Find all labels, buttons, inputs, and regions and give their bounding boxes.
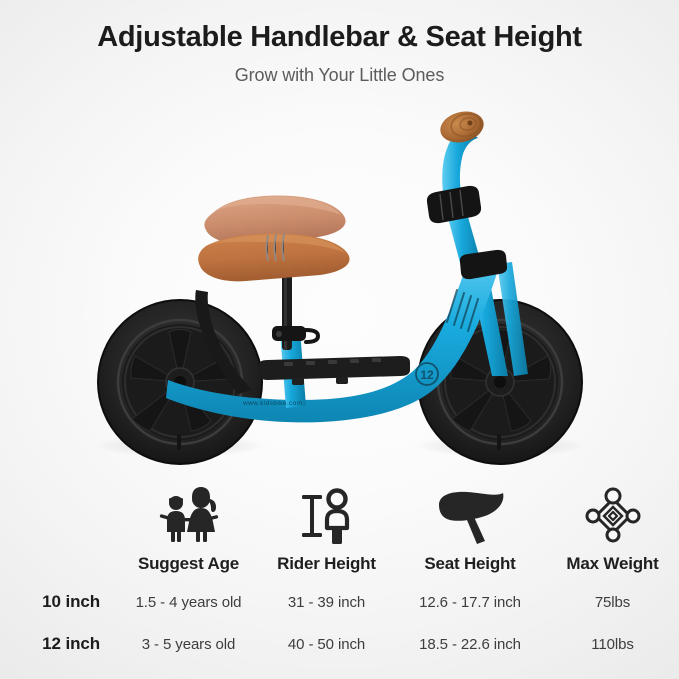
- spec-header-row: Suggest Age Rider Height Seat Height Max…: [0, 547, 679, 581]
- bike-svg: 12 www.kidsbike.com: [0, 94, 679, 469]
- spec-header-spacer: [0, 547, 118, 581]
- front-valve-stem: [177, 434, 181, 450]
- page-subtitle: Grow with Your Little Ones: [0, 65, 679, 86]
- column-header-suggest-age: Suggest Age: [118, 547, 259, 581]
- rider-height-icon-cell: [259, 481, 394, 547]
- spec-icon-spacer: [0, 481, 118, 547]
- children-icon: [156, 487, 222, 545]
- footrest-platform: [258, 356, 410, 385]
- cell-10inch-seat-height: 12.6 - 17.7 inch: [394, 581, 546, 623]
- cell-12inch-rider-height: 40 - 50 inch: [259, 623, 394, 665]
- saddle-lower: [198, 233, 349, 281]
- cell-12inch-suggest-age: 3 - 5 years old: [118, 623, 259, 665]
- rider-height-icon: [300, 487, 354, 545]
- children-icon-cell: [118, 481, 259, 547]
- row-label-10-inch: 10 inch: [0, 581, 118, 623]
- max-weight-icon: [584, 487, 642, 545]
- column-header-max-weight: Max Weight: [546, 547, 679, 581]
- table-row: 10 inch 1.5 - 4 years old 31 - 39 inch 1…: [0, 581, 679, 623]
- product-hero: 12 www.kidsbike.com: [0, 94, 679, 469]
- cell-10inch-rider-height: 31 - 39 inch: [259, 581, 394, 623]
- specification-table: Suggest Age Rider Height Seat Height Max…: [0, 481, 679, 665]
- bike-saddle-icon: [433, 489, 507, 545]
- column-header-seat-height: Seat Height: [394, 547, 546, 581]
- column-header-rider-height: Rider Height: [259, 547, 394, 581]
- max-weight-icon-cell: [546, 481, 679, 547]
- balance-bike-illustration: 12 www.kidsbike.com: [0, 94, 679, 469]
- cell-12inch-max-weight: 110lbs: [546, 623, 679, 665]
- infographic-header: Adjustable Handlebar & Seat Height Grow …: [0, 0, 679, 86]
- cell-10inch-max-weight: 75lbs: [546, 581, 679, 623]
- cell-10inch-suggest-age: 1.5 - 4 years old: [118, 581, 259, 623]
- rear-wheel: [418, 300, 582, 464]
- seat-clamp: [272, 326, 318, 342]
- handlebar-height-clamp: [427, 186, 481, 223]
- frame-decal-text: www.kidsbike.com: [242, 400, 303, 407]
- spec-icon-row: [0, 481, 679, 547]
- bike-saddle-icon-cell: [394, 481, 546, 547]
- row-label-12-inch: 12 inch: [0, 623, 118, 665]
- cell-12inch-seat-height: 18.5 - 22.6 inch: [394, 623, 546, 665]
- table-row: 12 inch 3 - 5 years old 40 - 50 inch 18.…: [0, 623, 679, 665]
- handlebar-grip: [437, 107, 487, 147]
- page-title: Adjustable Handlebar & Seat Height: [0, 22, 679, 54]
- frame-size-badge-text: 12: [420, 368, 434, 382]
- rear-valve-stem: [497, 434, 501, 450]
